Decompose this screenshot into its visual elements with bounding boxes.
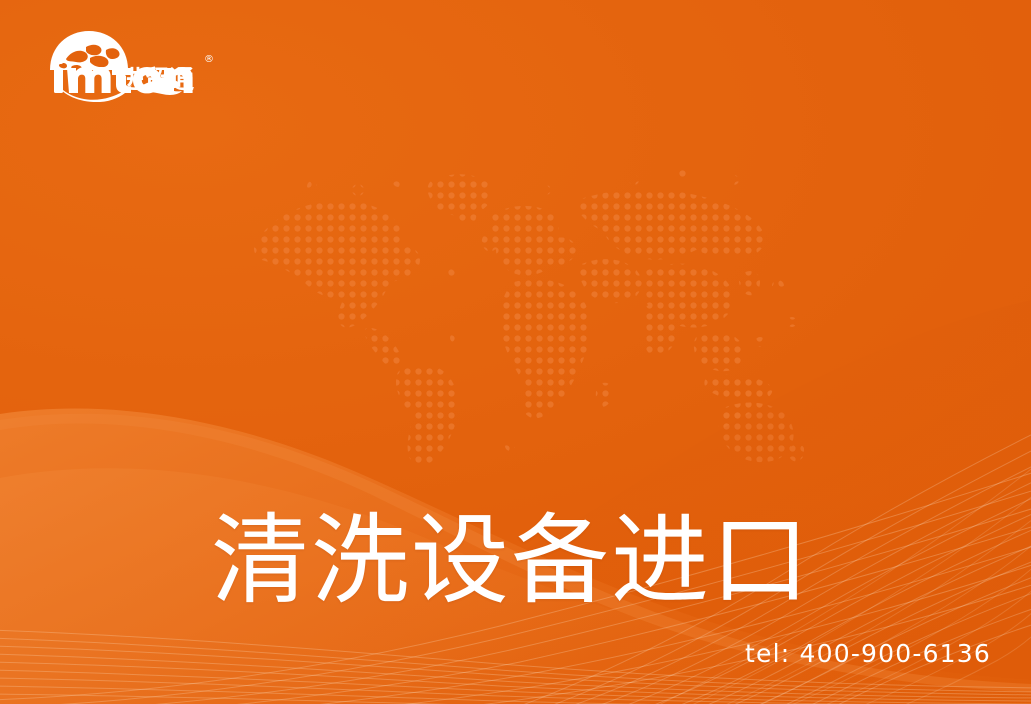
poster-canvas: 进贸通 ® 清洗设备进口 清关代理公司 tel: 400-900-6136 — [0, 0, 1031, 704]
brand-logo[interactable]: 进贸通 ® — [42, 26, 218, 102]
contact-phone[interactable]: tel: 400-900-6136 — [745, 639, 991, 668]
page-title: 清洗设备进口 清关代理公司 — [211, 236, 811, 704]
logo-chinese-name: 进贸通 — [119, 65, 194, 94]
trademark-icon: ® — [204, 54, 214, 65]
headline-line-1: 清洗设备进口 — [211, 496, 811, 626]
